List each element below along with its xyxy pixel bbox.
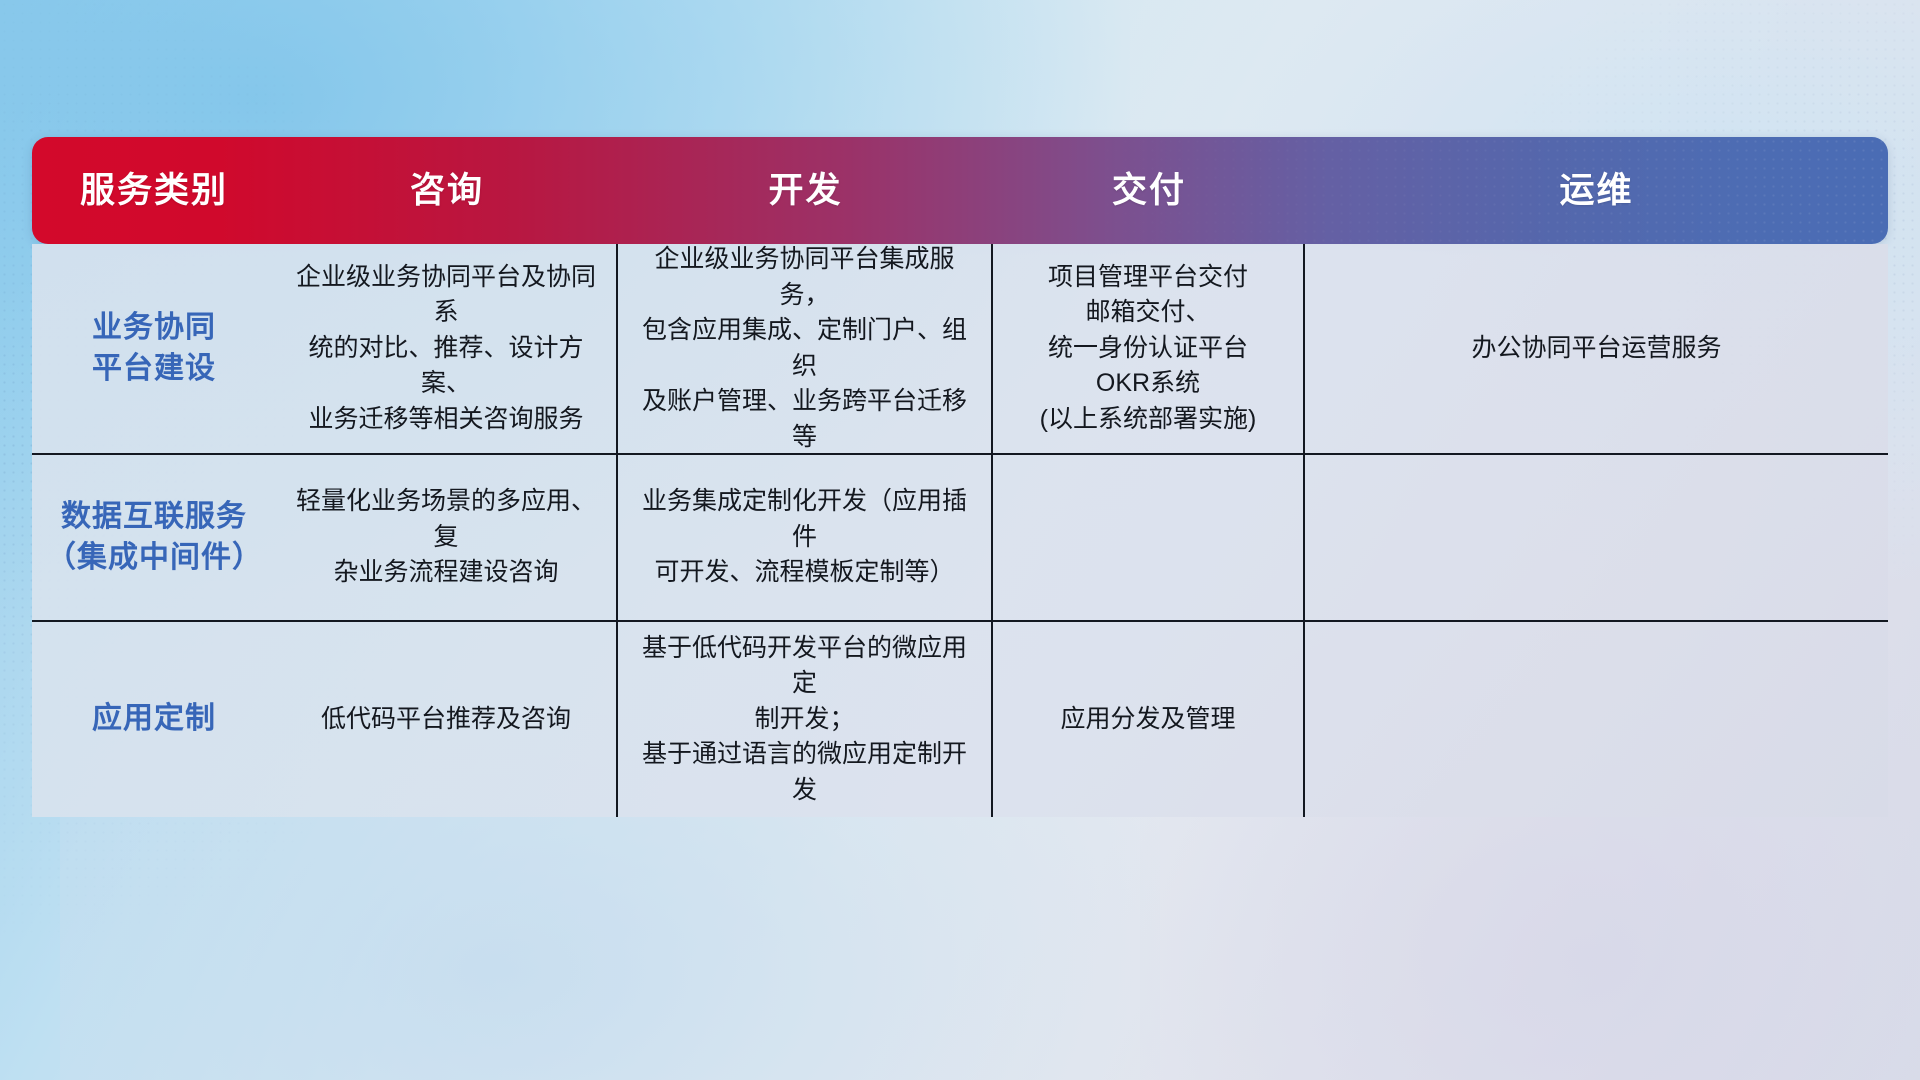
table-row: 数据互联服务 （集成中间件） 轻量化业务场景的多应用、复 杂业务流程建设咨询 业… [32,455,1888,622]
cell-consulting-row-3: 低代码平台推荐及咨询 [276,622,618,817]
cell-delivery-row-1: 项目管理平台交付 邮箱交付、 统一身份认证平台 OKR系统 (以上系统部署实施) [993,244,1305,453]
cell-delivery-row-2 [993,455,1305,620]
row-label-business-collaboration: 业务协同 平台建设 [32,244,276,453]
cell-development-row-3: 基于低代码开发平台的微应用定 制开发； 基于通过语言的微应用定制开发 [618,622,993,817]
cell-operations-row-3 [1305,622,1888,817]
table-row: 业务协同 平台建设 企业级业务协同平台及协同系 统的对比、推荐、设计方案、 业务… [32,244,1888,455]
row-label-data-interconnect: 数据互联服务 （集成中间件） [32,455,276,620]
cell-consulting-row-1: 企业级业务协同平台及协同系 统的对比、推荐、设计方案、 业务迁移等相关咨询服务 [276,244,618,453]
row-label-app-customization: 应用定制 [32,622,276,817]
cell-operations-row-2 [1305,455,1888,620]
column-header-delivery: 交付 [993,137,1305,244]
column-header-operations: 运维 [1305,137,1888,244]
table-body: 业务协同 平台建设 企业级业务协同平台及协同系 统的对比、推荐、设计方案、 业务… [32,244,1888,817]
cell-development-row-2: 业务集成定制化开发（应用插件 可开发、流程模板定制等） [618,455,993,620]
column-header-service-category: 服务类别 [32,137,276,244]
cell-operations-row-1: 办公协同平台运营服务 [1305,244,1888,453]
service-matrix-table: 服务类别 咨询 开发 交付 运维 业务协同 平台建设 企业级业务协同平台及协同系… [32,137,1888,817]
cell-delivery-row-3: 应用分发及管理 [993,622,1305,817]
cell-consulting-row-2: 轻量化业务场景的多应用、复 杂业务流程建设咨询 [276,455,618,620]
cell-development-row-1: 企业级业务协同平台集成服务， 包含应用集成、定制门户、组织 及账户管理、业务跨平… [618,244,993,453]
table-header-row: 服务类别 咨询 开发 交付 运维 [32,137,1888,244]
column-header-consulting: 咨询 [276,137,618,244]
table-row: 应用定制 低代码平台推荐及咨询 基于低代码开发平台的微应用定 制开发； 基于通过… [32,622,1888,817]
column-header-development: 开发 [618,137,993,244]
